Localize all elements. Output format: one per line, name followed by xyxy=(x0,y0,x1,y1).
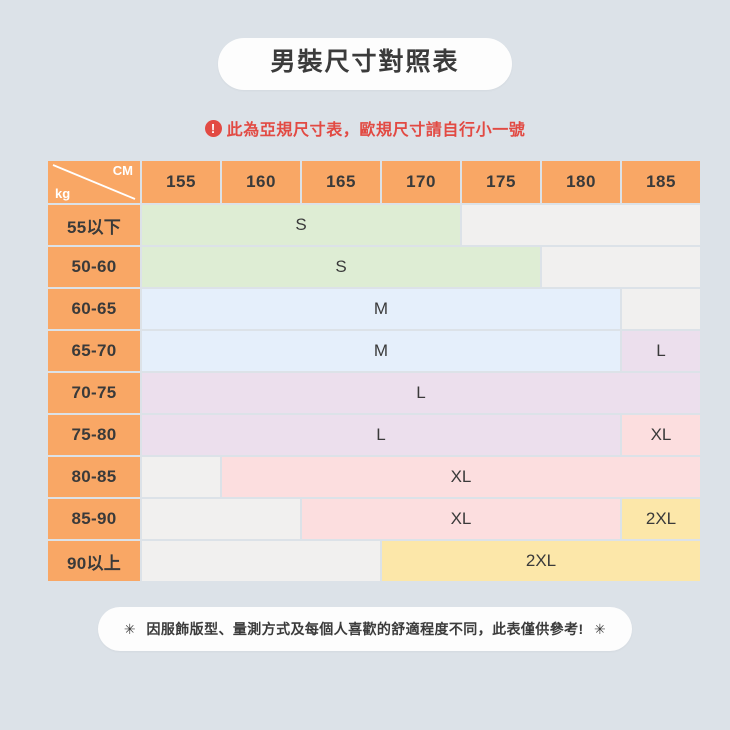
size-chart-page: { "page": { "background_color": "#dce2e8… xyxy=(0,0,730,730)
notice-text: 此為亞規尺寸表，歐規尺寸請自行小一號 xyxy=(227,116,526,140)
size-label: XL xyxy=(651,425,672,444)
column-header-170: 170 xyxy=(382,161,460,203)
size-cell-2XL: 2XL xyxy=(382,541,700,581)
row-header-65-70: 65-70 xyxy=(48,331,140,371)
column-header-165: 165 xyxy=(302,161,380,203)
exclamation-circle-icon: ! xyxy=(205,120,222,137)
size-cell-L: L xyxy=(142,415,620,455)
title-section: 男裝尺寸對照表 xyxy=(0,0,730,90)
table-row: 90以上2XL xyxy=(48,541,700,581)
size-cell-2XL: 2XL xyxy=(622,499,700,539)
table-row: 85-90XL2XL xyxy=(48,499,700,539)
footer-left-asterisk-icon: ✳ xyxy=(124,621,136,637)
title-pill: 男裝尺寸對照表 xyxy=(218,38,511,90)
size-label: S xyxy=(295,215,306,234)
notice-banner: ! 此為亞規尺寸表，歐規尺寸請自行小一號 xyxy=(0,116,730,140)
size-cell-M: M xyxy=(142,331,620,371)
row-header-80-85: 80-85 xyxy=(48,457,140,497)
axis-corner-cell: CMkg xyxy=(48,161,140,203)
size-cell-empty xyxy=(542,247,700,287)
row-header-50-60: 50-60 xyxy=(48,247,140,287)
size-cell-L: L xyxy=(622,331,700,371)
column-header-155: 155 xyxy=(142,161,220,203)
size-label: XL xyxy=(451,509,472,528)
size-cell-empty xyxy=(622,289,700,329)
size-cell-L: L xyxy=(142,373,700,413)
corner-cm-label: CM xyxy=(113,163,133,179)
size-label: M xyxy=(374,341,388,360)
table-row: 65-70ML xyxy=(48,331,700,371)
size-label: L xyxy=(416,383,425,402)
size-label: 2XL xyxy=(646,509,676,528)
size-cell-M: M xyxy=(142,289,620,329)
size-cell-empty xyxy=(142,457,220,497)
row-header-75-80: 75-80 xyxy=(48,415,140,455)
corner-kg-label: kg xyxy=(55,186,70,202)
size-label: L xyxy=(376,425,385,444)
footer-right-asterisk-icon: ✳ xyxy=(594,621,606,637)
footer-section: ✳ 因服飾版型、量測方式及每個人喜歡的舒適程度不同，此表僅供參考! ✳ xyxy=(0,607,730,651)
row-header-70-75: 70-75 xyxy=(48,373,140,413)
row-header-55以下: 55以下 xyxy=(48,205,140,245)
footer-pill: ✳ 因服飾版型、量測方式及每個人喜歡的舒適程度不同，此表僅供參考! ✳ xyxy=(98,607,632,651)
row-header-60-65: 60-65 xyxy=(48,289,140,329)
column-header-180: 180 xyxy=(542,161,620,203)
page-title: 男裝尺寸對照表 xyxy=(270,50,459,75)
size-cell-XL: XL xyxy=(622,415,700,455)
table-row: 60-65M xyxy=(48,289,700,329)
row-header-85-90: 85-90 xyxy=(48,499,140,539)
size-cell-XL: XL xyxy=(222,457,700,497)
table-row: 50-60S xyxy=(48,247,700,287)
table-row: 55以下S xyxy=(48,205,700,245)
column-header-175: 175 xyxy=(462,161,540,203)
size-label: S xyxy=(335,257,346,276)
table-row: 75-80LXL xyxy=(48,415,700,455)
column-header-160: 160 xyxy=(222,161,300,203)
size-cell-S: S xyxy=(142,247,540,287)
size-cell-XL: XL xyxy=(302,499,620,539)
column-header-185: 185 xyxy=(622,161,700,203)
size-cell-empty xyxy=(462,205,700,245)
size-label: M xyxy=(374,299,388,318)
size-cell-S: S xyxy=(142,205,460,245)
table-row: 70-75L xyxy=(48,373,700,413)
size-label: XL xyxy=(451,467,472,486)
size-table: CMkg15516016517017518018555以下S50-60S60-6… xyxy=(46,159,702,583)
footer-note: 因服飾版型、量測方式及每個人喜歡的舒適程度不同，此表僅供參考! xyxy=(146,621,583,637)
size-cell-empty xyxy=(142,499,300,539)
size-cell-empty xyxy=(142,541,380,581)
size-label: L xyxy=(656,341,665,360)
size-label: 2XL xyxy=(526,551,556,570)
table-header-row: CMkg155160165170175180185 xyxy=(48,161,700,203)
size-table-container: CMkg15516016517017518018555以下S50-60S60-6… xyxy=(46,159,684,583)
table-row: 80-85XL xyxy=(48,457,700,497)
row-header-90以上: 90以上 xyxy=(48,541,140,581)
